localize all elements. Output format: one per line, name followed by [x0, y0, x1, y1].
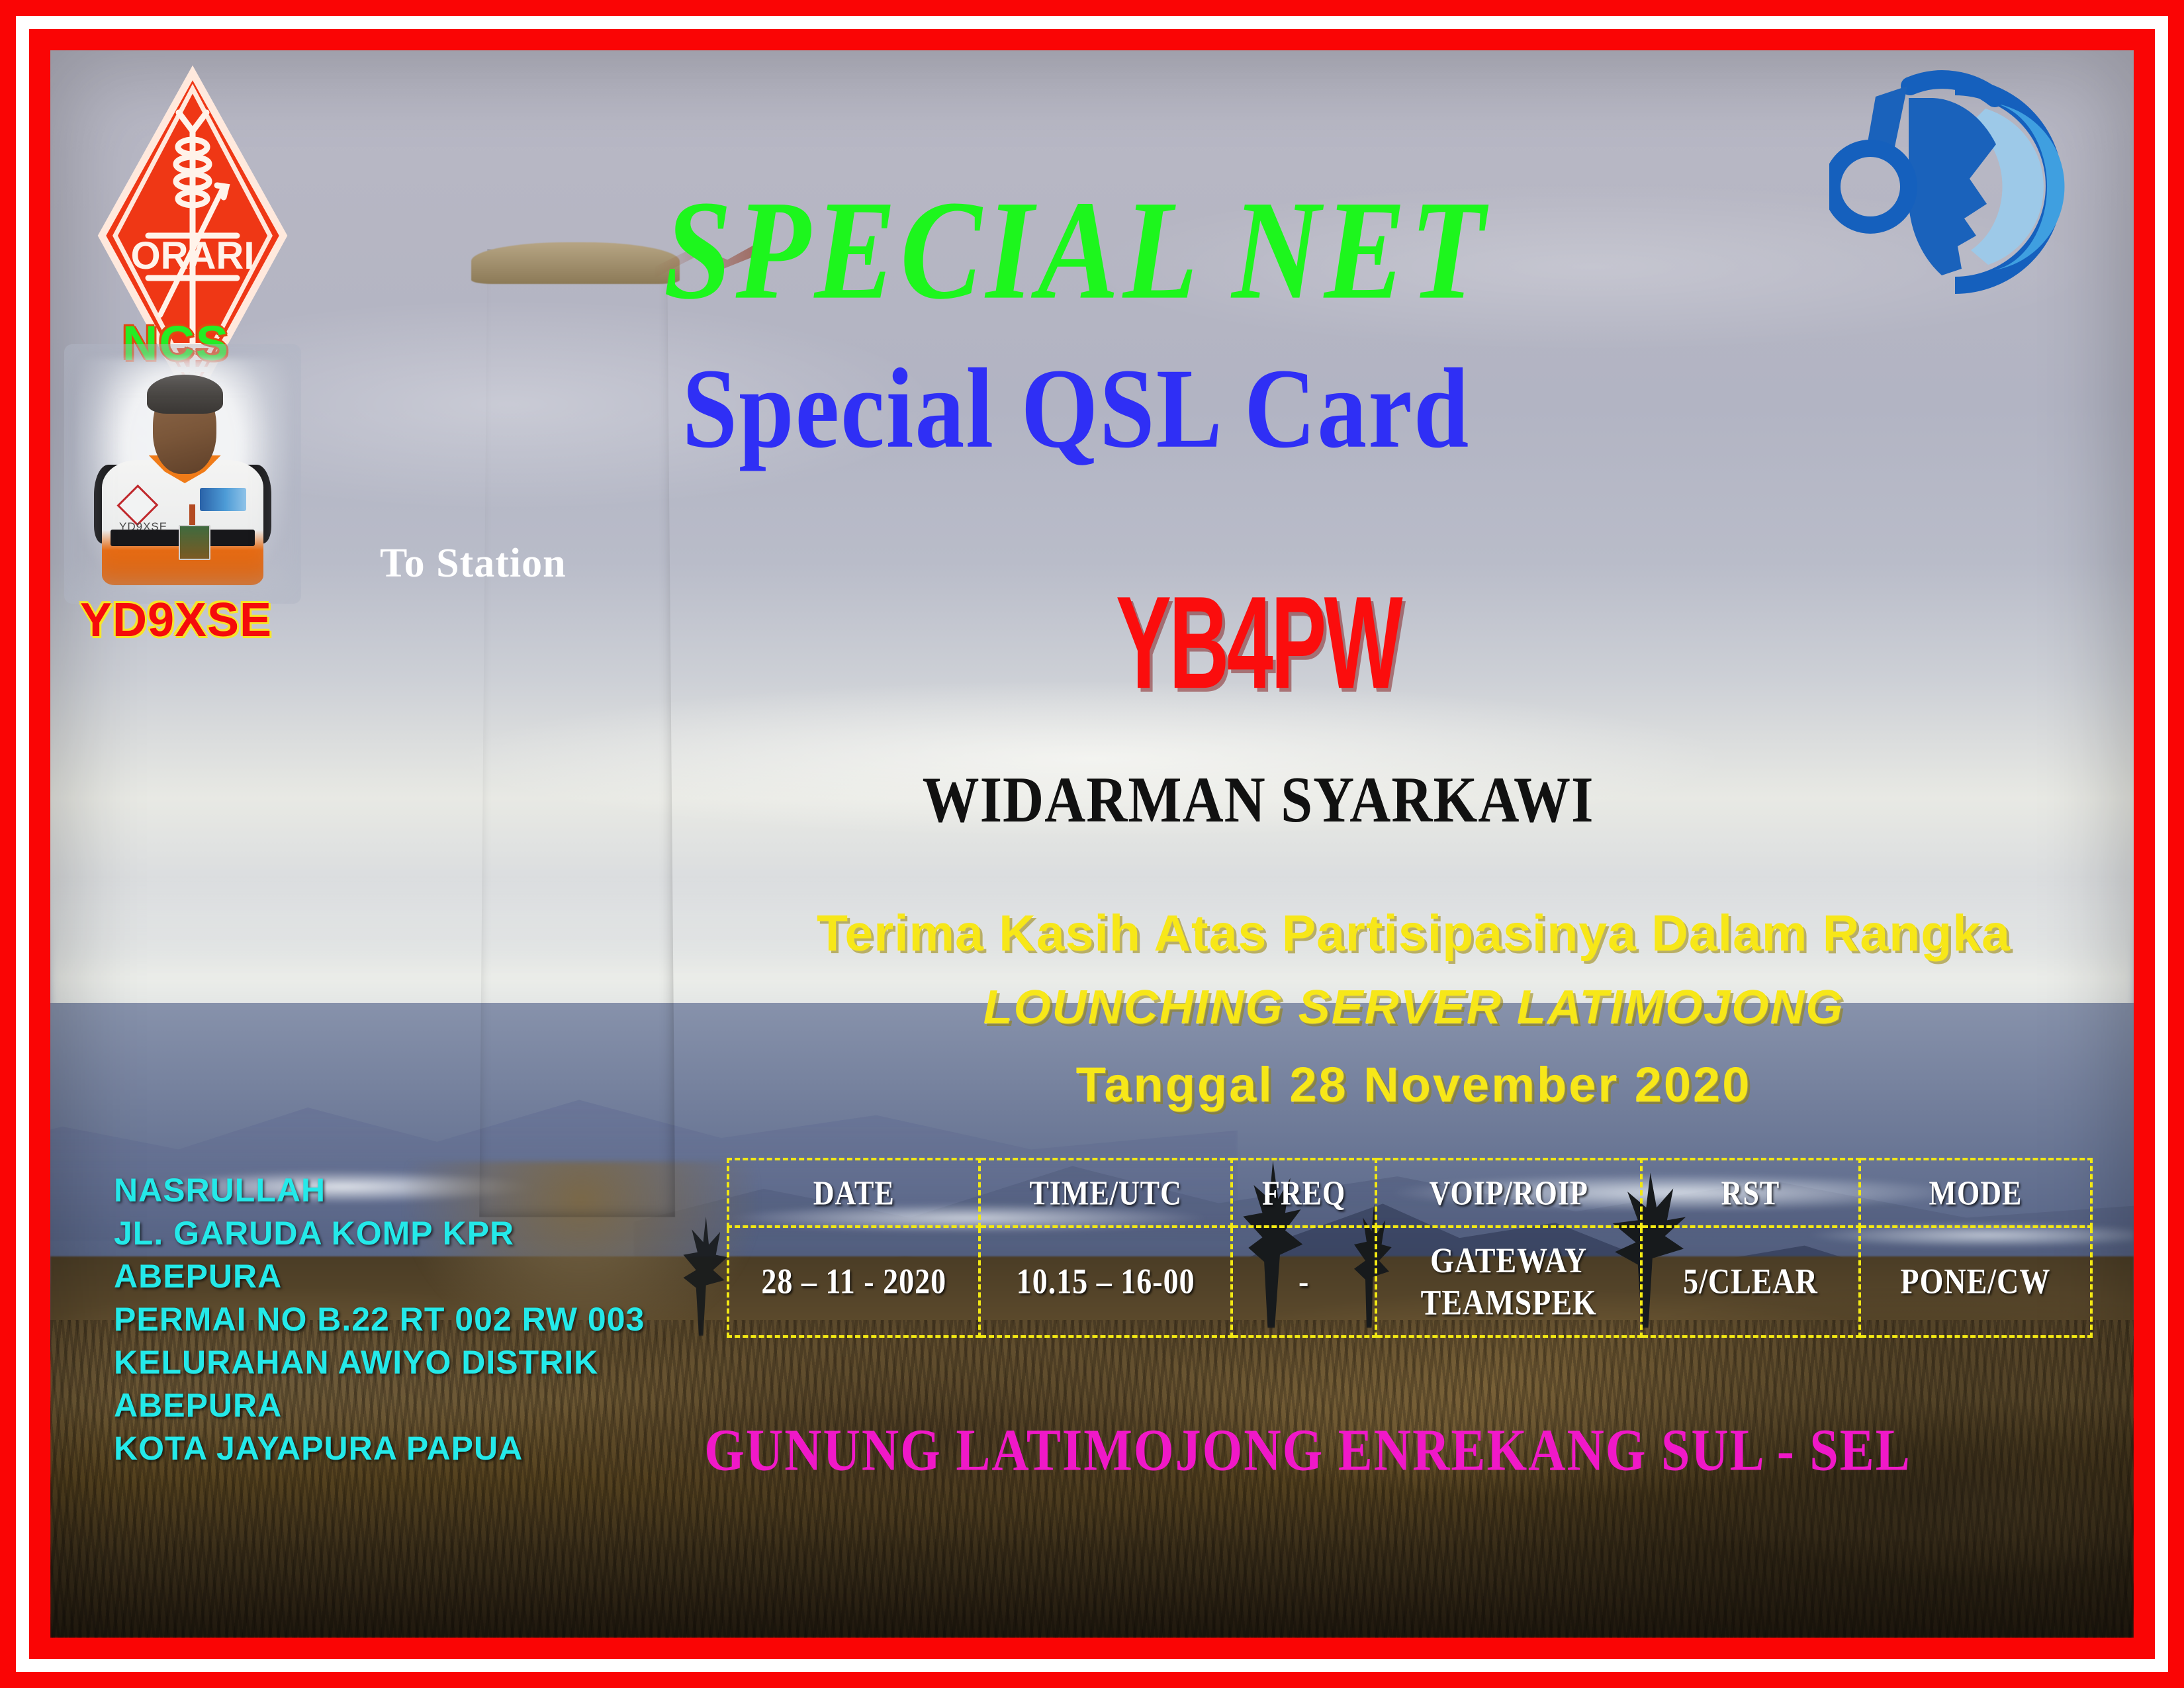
cell-date: 28 – 11 - 2020 [728, 1217, 979, 1346]
address-line: JL. GARUDA KOMP KPR [114, 1212, 645, 1255]
shirt-callsign-text: YD9XSE [119, 520, 167, 534]
address-line: ABEPURA [114, 1255, 645, 1298]
address-line: ABEPURA [114, 1384, 645, 1427]
ncs-operator-photo: YD9XSE [77, 358, 289, 590]
cell-time: 10.15 – 16-00 [979, 1217, 1231, 1346]
page-subtitle: Special QSL Card [447, 352, 1705, 466]
cell-mode: PONE/CW [1860, 1217, 2091, 1346]
operator-name: WIDARMAN SYARKAWI [745, 762, 1771, 837]
cell-rst: 5/CLEAR [1641, 1217, 1860, 1346]
address-line: PERMAI NO B.22 RT 002 RW 003 [114, 1298, 645, 1341]
ncs-callsign: YD9XSE [64, 593, 289, 647]
address-line: NASRULLAH [114, 1169, 645, 1212]
background-photo: ORARI NCS [50, 50, 2134, 1638]
shirt-patch [200, 488, 246, 511]
hair [147, 375, 223, 414]
event-launch-line: LOUNCHING SERVER LATIMOJONG [732, 980, 2095, 1035]
to-station-label: To Station [380, 540, 567, 587]
location-text: GUNUNG LATIMOJONG ENREKANG SUL - SEL [679, 1415, 1936, 1484]
cell-freq: - [1232, 1217, 1376, 1346]
address-line: KELURAHAN AWIYO DISTRIK [114, 1341, 645, 1384]
cell-voip-line2: TEAMSPEK [1421, 1282, 1597, 1322]
sender-address-block: NASRULLAH JL. GARUDA KOMP KPR ABEPURA PE… [114, 1169, 645, 1470]
cell-voip-line1: GATEWAY [1430, 1240, 1587, 1280]
qso-table: DATE TIME/UTC FREQ VOIP/ROIP RST MODE 28… [727, 1158, 2093, 1338]
id-card [179, 525, 211, 560]
headphone-profile-logo [1829, 57, 2094, 315]
address-line: KOTA JAYAPURA PAPUA [114, 1427, 645, 1470]
page-title: SPECIAL NET [447, 179, 1705, 322]
cell-voip: GATEWAY TEAMSPEK [1376, 1217, 1641, 1346]
table-row: 28 – 11 - 2020 10.15 – 16-00 - GATEWAY T… [728, 1227, 2091, 1336]
qsl-card: ORARI NCS [0, 0, 2184, 1688]
to-station-callsign: YB4PW [916, 567, 1601, 719]
event-thanks-line: Terima Kasih Atas Partisipasinya Dalam R… [732, 904, 2095, 963]
orari-logo-text: ORARI [131, 234, 255, 277]
event-date-line: Tanggal 28 November 2020 [732, 1056, 2095, 1113]
